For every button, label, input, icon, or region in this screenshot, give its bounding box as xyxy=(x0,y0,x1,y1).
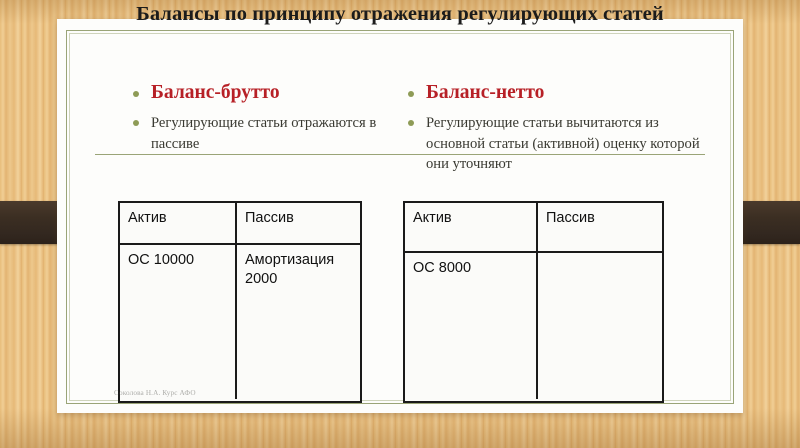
net-balance-heading: Баланс-нетто xyxy=(426,82,544,103)
table-header-asset: Актив xyxy=(405,203,538,251)
table-row: ОС 8000 xyxy=(405,253,662,399)
page-title: Балансы по принципу отражения регулирующ… xyxy=(60,2,740,27)
table-header-liability: Пассив xyxy=(538,203,662,251)
table-cell-liability-value: Амортизация 2000 xyxy=(237,245,360,399)
bullet-item-gross-body: Регулирующие статьи отражаются в пассиве xyxy=(127,113,392,154)
table-cell-asset-value: ОС 8000 xyxy=(405,253,538,399)
bullet-item-gross-heading: Баланс-брутто xyxy=(127,81,392,105)
column-net-balance: Баланс-нетто Регулирующие статьи вычитаю… xyxy=(402,81,702,175)
bullet-item-net-heading: Баланс-нетто xyxy=(402,81,702,105)
table-cell-liability-value xyxy=(538,253,662,399)
table-row: ОС 10000 Амортизация 2000 xyxy=(120,245,360,399)
table-row: Актив Пассив xyxy=(120,203,360,245)
table-header-asset: Актив xyxy=(120,203,237,243)
slide-root: Балансы по принципу отражения регулирующ… xyxy=(0,0,800,448)
bullet-dot-icon xyxy=(408,91,414,97)
author-watermark: Соколова Н.А. Курс АФО xyxy=(114,389,196,397)
table-cell-asset-value: ОС 10000 xyxy=(120,245,237,399)
bullet-item-net-body: Регулирующие статьи вычитаются из основн… xyxy=(402,113,702,175)
gross-balance-heading: Баланс-брутто xyxy=(151,82,280,103)
net-balance-table: Актив Пассив ОС 8000 xyxy=(403,201,664,403)
gross-balance-description: Регулирующие статьи отражаются в пассиве xyxy=(151,115,376,152)
bullet-dot-icon xyxy=(133,91,139,97)
wood-background-bottom-shade xyxy=(0,408,800,448)
net-balance-description: Регулирующие статьи вычитаются из основн… xyxy=(426,115,700,172)
table-row: Актив Пассив xyxy=(405,203,662,253)
bullet-dot-icon xyxy=(133,120,139,126)
column-gross-balance: Баланс-брутто Регулирующие статьи отража… xyxy=(127,81,392,154)
table-header-liability: Пассив xyxy=(237,203,360,243)
bullet-dot-icon xyxy=(408,120,414,126)
gross-balance-table: Актив Пассив ОС 10000 Амортизация 2000 xyxy=(118,201,362,403)
